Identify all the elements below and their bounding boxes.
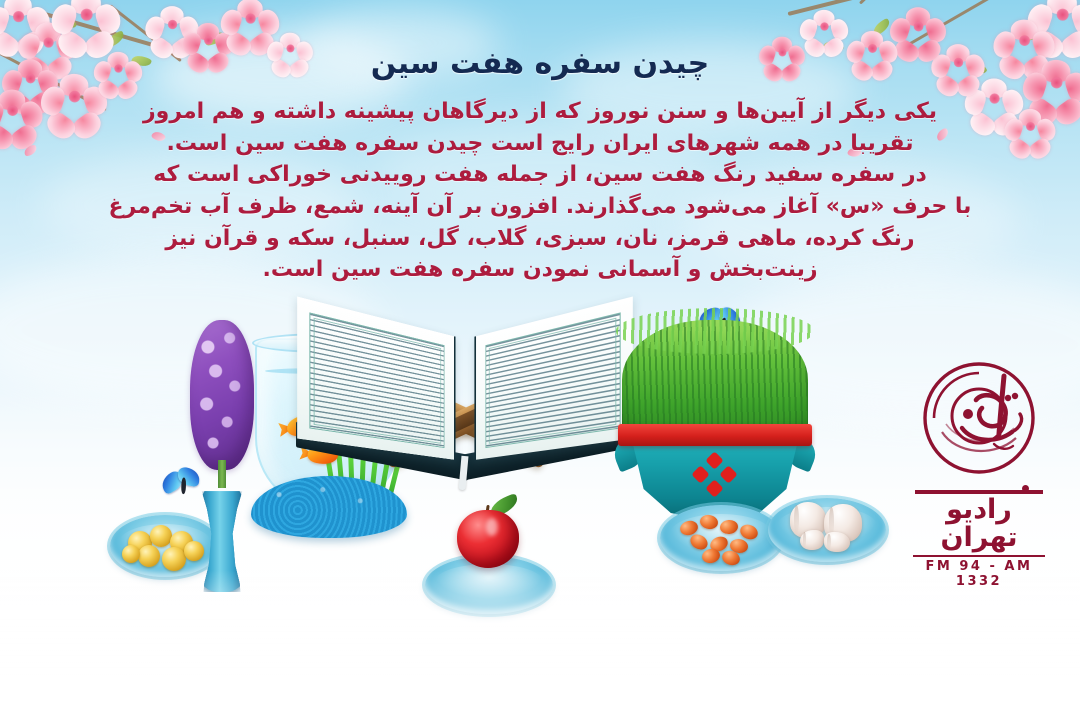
page-title: چیدن سفره هفت سین	[0, 46, 1080, 82]
body-line: با حرف «س» آغاز می‌شود می‌گذارند. افزون …	[0, 191, 1080, 223]
hyacinth-stem	[218, 460, 226, 488]
leaf-shape	[57, 11, 77, 32]
poster-canvas: چیدن سفره هفت سین یکی دیگر از آیین‌ها و …	[0, 0, 1080, 720]
body-line: در سفره سفید رنگ هفت سین، از جمله هفت رو…	[0, 159, 1080, 191]
logo-wordmark: رادیو تهران	[904, 496, 1054, 553]
body-line: رنگ کرده، ماهی قرمز، نان، سبزی، گلاب، گل…	[0, 223, 1080, 255]
radio-tehran-logo[interactable]: رادیو تهران FM 94 - AM 1332	[904, 358, 1054, 558]
coin	[150, 525, 172, 547]
quran-page	[474, 296, 632, 459]
garlic-plate	[768, 498, 886, 562]
poster-body-text: یکی دیگر از آیین‌ها و سنن نوروز که از دی…	[0, 96, 1080, 286]
leaf-shape	[204, 32, 225, 46]
blossom-flower	[0, 0, 46, 44]
blossom-flower	[894, 2, 942, 50]
senjed-plate	[660, 505, 782, 571]
radio-tehran-calligraphy-emblem-icon	[916, 358, 1042, 484]
apple-plate	[425, 538, 553, 616]
leaf-shape	[871, 18, 892, 37]
blossom-flower	[225, 0, 276, 43]
garlic-clove	[800, 530, 824, 550]
vase-foot	[200, 480, 244, 592]
red-apple	[457, 510, 519, 568]
coin	[138, 545, 160, 567]
leaf-shape	[1021, 28, 1041, 41]
logo-divider-rule	[915, 490, 1043, 494]
blossom-flower	[803, 5, 845, 47]
coin	[122, 545, 140, 563]
blossom-flower	[1032, 0, 1080, 44]
garlic-clove	[824, 532, 850, 552]
hyacinth-bloom	[190, 320, 254, 470]
blossom-flower	[149, 1, 195, 47]
poster-text-block: چیدن سفره هفت سین یکی دیگر از آیین‌ها و …	[0, 46, 1080, 286]
body-line: تقریبا در همه شهرهای ایران رایج است چیدن…	[0, 128, 1080, 160]
hyacinth-vase	[182, 320, 262, 590]
body-line: زینت‌بخش و آسمانی نمودن سفره هفت سین است…	[0, 254, 1080, 286]
body-line: یکی دیگر از آیین‌ها و سنن نوروز که از دی…	[0, 96, 1080, 128]
quran-page	[297, 296, 455, 459]
logo-frequency: FM 94 - AM 1332	[913, 555, 1045, 589]
quran-on-rehal	[300, 318, 630, 538]
quran-bookmark-ribbon	[459, 456, 469, 490]
blossom-flower	[56, 0, 115, 44]
red-ribbon	[618, 424, 812, 446]
